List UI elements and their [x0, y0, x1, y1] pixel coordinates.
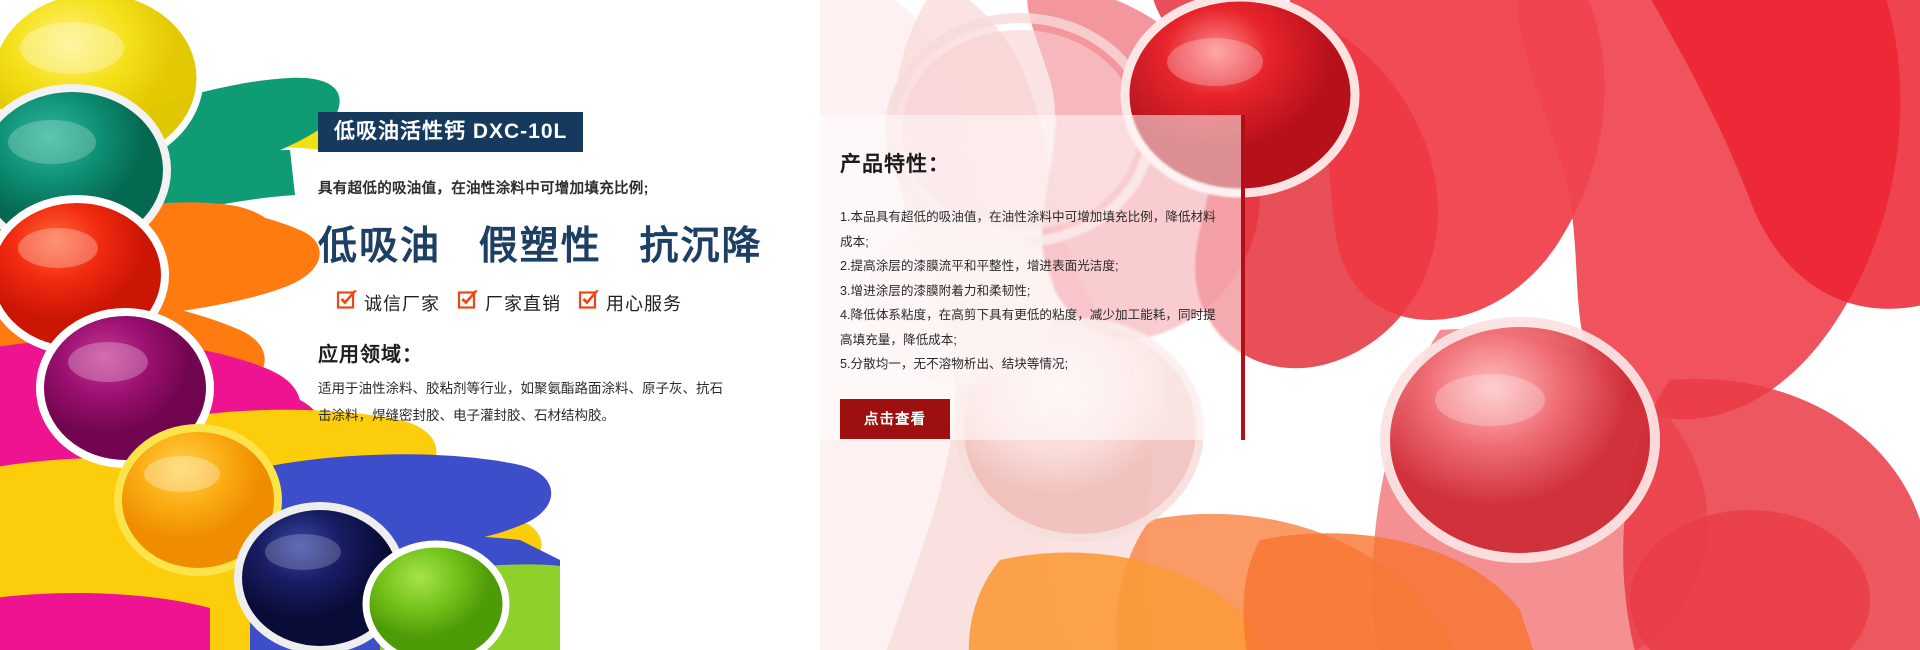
- trust-feature-list: 诚信厂家 厂家直销 用心服务: [336, 289, 748, 316]
- panel-feature-item: 1.本品具有超低的吸油值，在油性涂料中可增加填充比例，降低材料成本;: [840, 205, 1220, 254]
- trust-feature-label: 诚信厂家: [364, 290, 440, 316]
- headline-keyword-2: 假塑性: [479, 225, 602, 268]
- product-features-panel: 产品特性： 1.本品具有超低的吸油值，在油性涂料中可增加填充比例，降低材料成本;…: [805, 115, 1245, 440]
- panel-feature-item: 3.增进涂层的漆膜附着力和柔韧性;: [840, 279, 1220, 304]
- product-title-badge: 低吸油活性钙 DXC-10L: [318, 112, 583, 152]
- trust-feature-label: 用心服务: [606, 290, 682, 316]
- product-subtitle: 具有超低的吸油值，在油性涂料中可增加填充比例;: [318, 177, 748, 198]
- checkbox-checked-icon: [457, 289, 479, 316]
- headline-keyword-3: 抗沉降: [640, 225, 763, 268]
- panel-feature-item: 5.分散均一，无不溶物析出、结块等情况;: [840, 352, 1220, 377]
- panel-feature-item: 2.提高涂层的漆膜流平和平整性，增进表面光洁度;: [840, 254, 1220, 279]
- checkbox-checked-icon: [336, 289, 358, 316]
- product-hero-banner: 低吸油活性钙 DXC-10L 具有超低的吸油值，在油性涂料中可增加填充比例; 低…: [0, 0, 1920, 650]
- application-field-body: 适用于油性涂料、胶粘剂等行业，如聚氨酯路面涂料、原子灰、抗石击涂料，焊缝密封胶、…: [318, 375, 723, 429]
- trust-feature-item: 诚信厂家: [336, 289, 440, 316]
- panel-feature-list: 1.本品具有超低的吸油值，在油性涂料中可增加填充比例，降低材料成本; 2.提高涂…: [840, 205, 1220, 377]
- trust-feature-item: 厂家直销: [457, 289, 561, 316]
- application-field-heading: 应用领域：: [318, 338, 748, 367]
- product-headline: 低吸油 假塑性 抗沉降: [318, 215, 748, 271]
- left-content-block: 低吸油活性钙 DXC-10L 具有超低的吸油值，在油性涂料中可增加填充比例; 低…: [318, 112, 748, 429]
- trust-feature-label: 厂家直销: [485, 290, 561, 316]
- view-details-button[interactable]: 点击查看: [840, 399, 950, 439]
- panel-feature-item: 4.降低体系粘度，在高剪下具有更低的粘度，减少加工能耗，同时提高填充量，降低成本…: [840, 303, 1220, 352]
- trust-feature-item: 用心服务: [578, 289, 682, 316]
- panel-title: 产品特性：: [840, 148, 1241, 178]
- headline-keyword-1: 低吸油: [318, 225, 441, 268]
- checkbox-checked-icon: [578, 289, 600, 316]
